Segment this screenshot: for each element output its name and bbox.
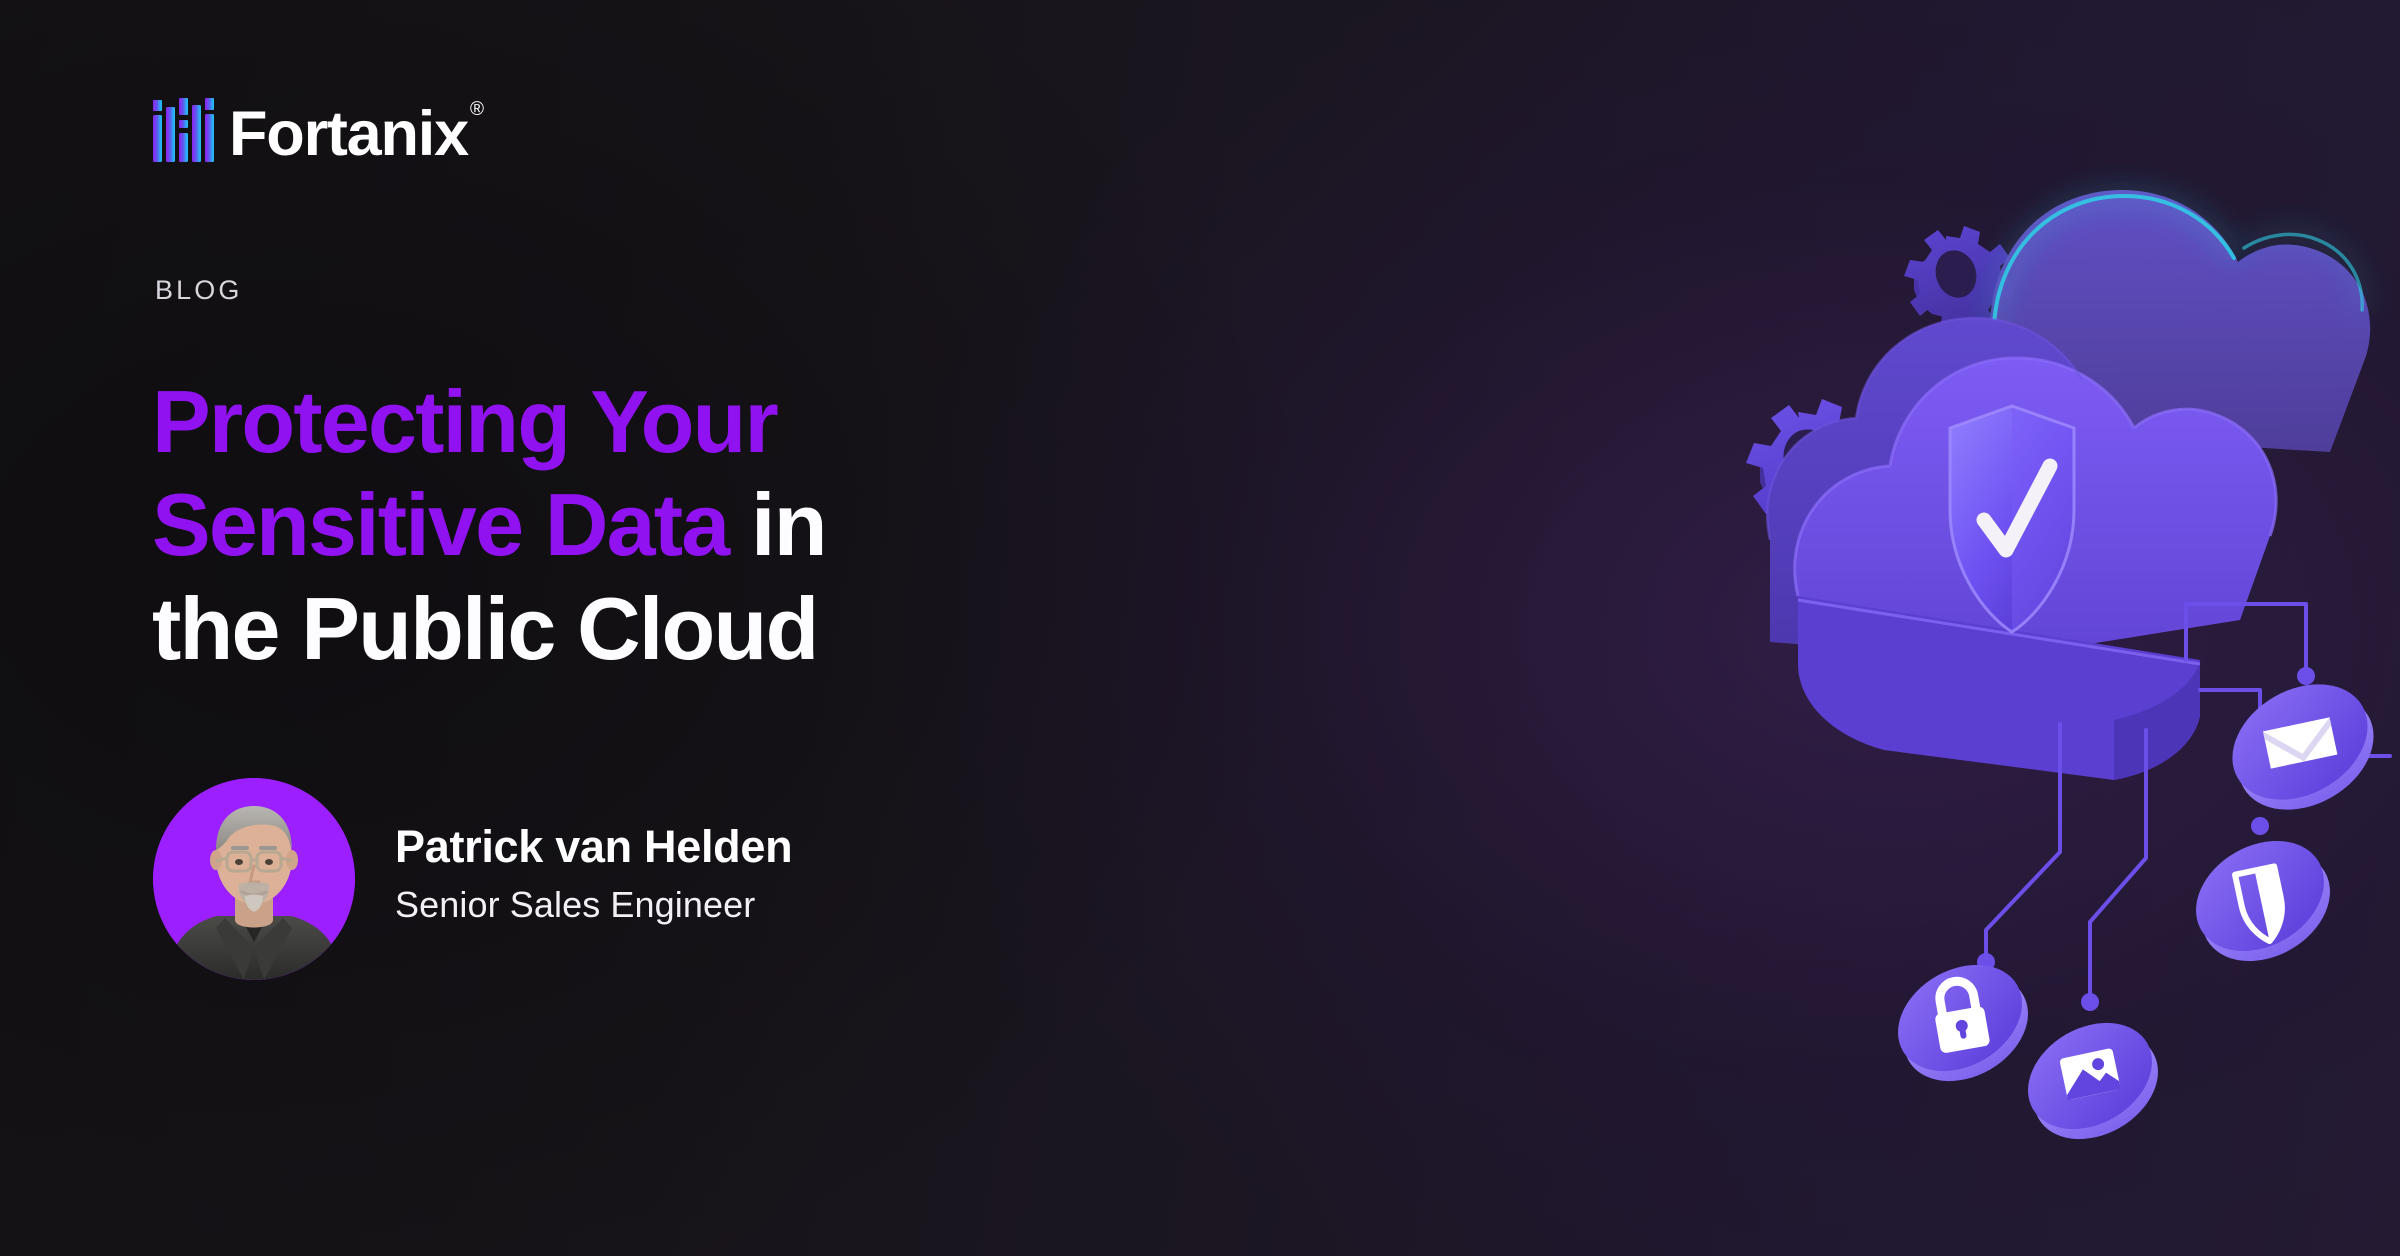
- headline-line-2-accent: Sensitive Data: [152, 475, 728, 574]
- isometric-secure-cloud-illustration: [1300, 0, 2400, 1256]
- author-role: Senior Sales Engineer: [395, 878, 792, 932]
- author-details: Patrick van Helden Senior Sales Engineer: [395, 820, 792, 939]
- page-title: Protecting Your Sensitive Data in the Pu…: [152, 370, 1252, 680]
- fortanix-bars-logo-icon: [152, 98, 216, 164]
- fortanix-logo[interactable]: Fortanix®: [152, 88, 481, 164]
- mail-node: [2212, 661, 2395, 833]
- cloud-icon: [1767, 190, 2370, 780]
- image-node: [2009, 1001, 2177, 1160]
- author-name: Patrick van Helden: [395, 820, 792, 875]
- shield-check-icon: [1950, 406, 2074, 632]
- image-icon: [2059, 1048, 2121, 1100]
- connector-lines: [1986, 604, 2390, 1002]
- gear-small-icon: [1904, 226, 2016, 334]
- shield-node: [2176, 819, 2350, 984]
- shield-icon: [2235, 866, 2289, 945]
- headline-line-2-plain: in: [728, 475, 825, 574]
- registered-trademark-symbol: ®: [470, 99, 483, 120]
- padlock-icon: [1929, 977, 1990, 1054]
- blog-hero-banner: Fortanix® BLOG Protecting Your Sensitive…: [0, 0, 2400, 1256]
- content-type-label: BLOG: [155, 275, 242, 306]
- headline-line-3: the Public Cloud: [152, 579, 817, 678]
- author-byline: Patrick van Helden Senior Sales Engineer: [153, 778, 792, 980]
- avatar: [153, 778, 355, 980]
- fortanix-wordmark: Fortanix®: [229, 106, 481, 164]
- envelope-icon: [2263, 717, 2337, 768]
- lock-node: [1879, 943, 2047, 1102]
- headline-line-1: Protecting Your: [152, 372, 777, 471]
- gear-large-icon: [1746, 399, 1887, 538]
- connector-endpoint-dots: [1977, 667, 2315, 1011]
